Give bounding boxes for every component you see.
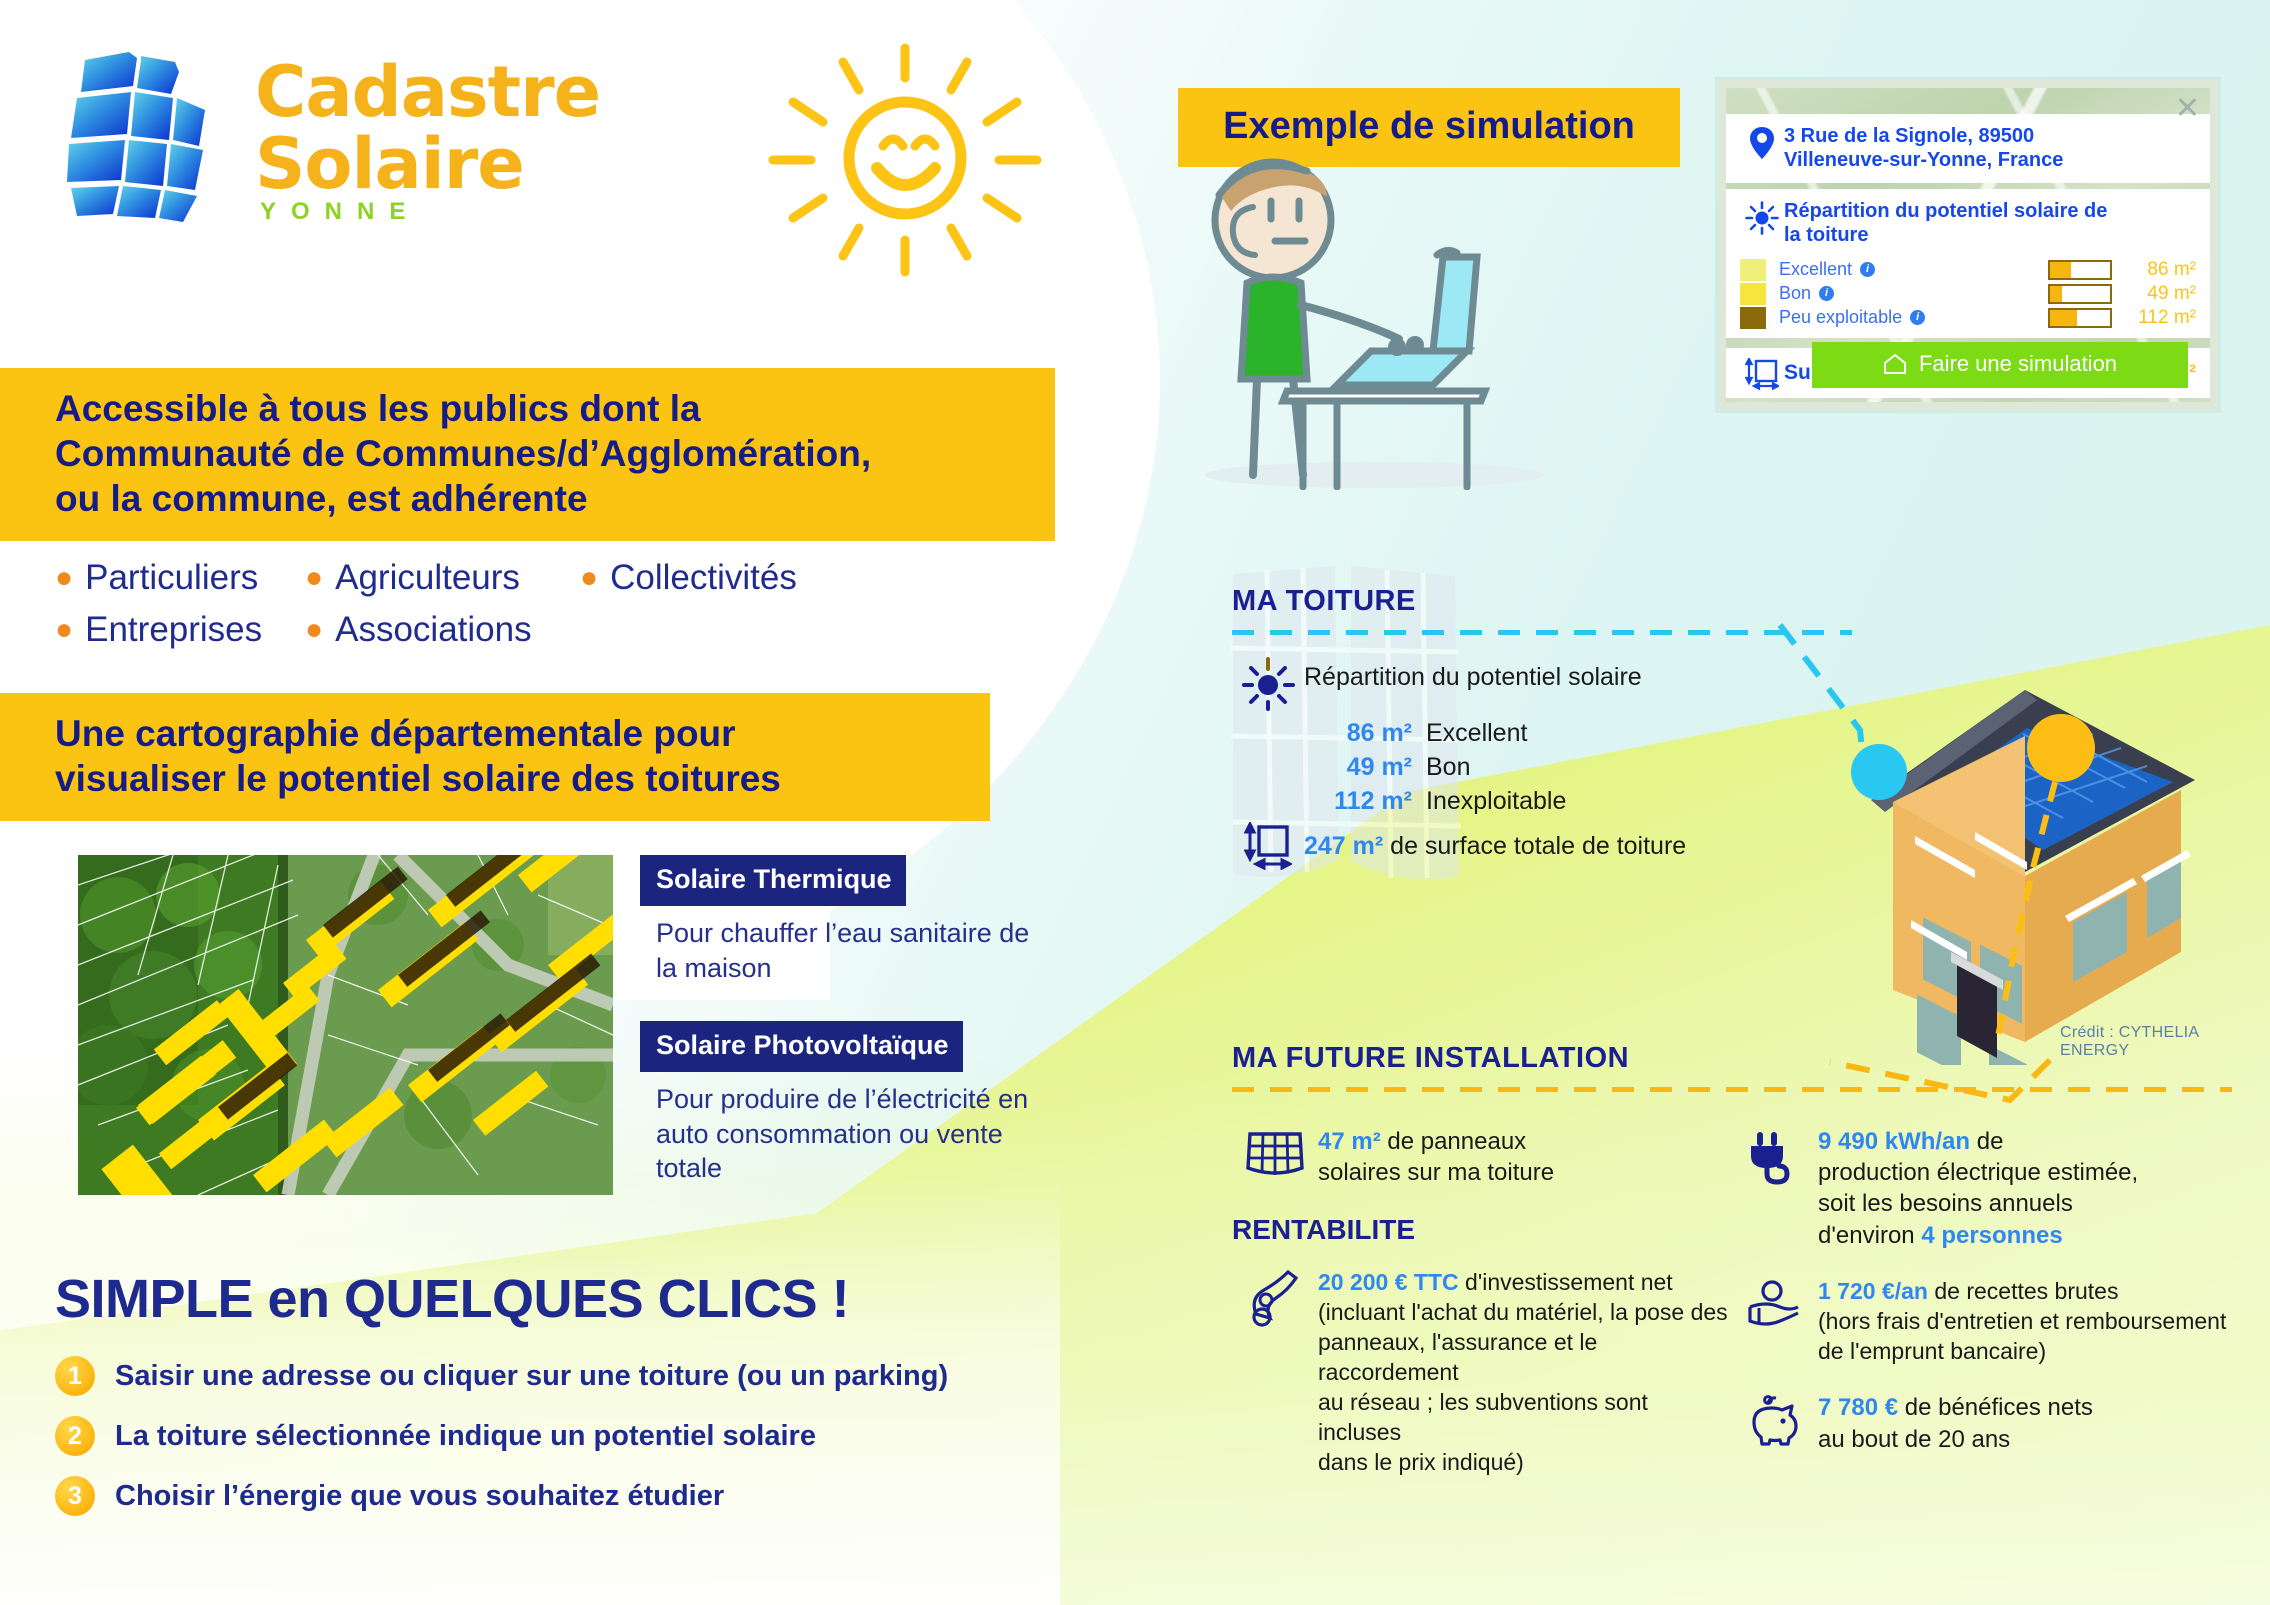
revenue-rest: de recettes brutes [1928,1278,2119,1304]
audience-label: Entreprises [85,610,262,650]
legend-bar [2048,284,2112,304]
energy-types: Solaire Thermique Pour chauffer l’eau sa… [640,855,1060,1186]
audience-item-agriculteurs: ● Agriculteurs [305,558,580,598]
close-icon[interactable]: ✕ [2175,94,2200,124]
audience-label: Associations [335,610,531,650]
solar-panel-icon [1232,1126,1318,1184]
revenue-value: 1 720 €/an [1818,1278,1928,1304]
banner2-line1: Une cartographie départementale pour [55,711,950,756]
ma-toiture-section: MA TOITURE Répartition du potentiel sola… [1232,585,1852,870]
address-row: 3 Rue de la Signole, 89500 Villeneuve-su… [1726,114,2210,183]
logo-line-1: Cadastre [255,56,600,128]
ma-toiture-title: MA TOITURE [1232,585,1852,618]
divider-dashed-yellow [1232,1087,2232,1092]
audience-row-1: ● Particuliers ● Agriculteurs ● Collecti… [55,558,955,598]
info-icon[interactable]: i [1860,262,1875,277]
toiture-surface-value: 247 m² [1304,832,1383,860]
energy-body: Pour chauffer l’eau sanitaire de la mais… [640,906,1060,985]
benefit-text: 7 780 € de bénéfices nets au bout de 20 … [1818,1392,2093,1454]
legend-swatch [1740,307,1766,329]
rentabilite-title: RENTABILITE [1232,1214,1732,1246]
audience-row-2: ● Entreprises ● Associations [55,610,955,650]
revenue-line-2: (hors frais d'entretien et remboursement [1818,1308,2226,1334]
audience-item-collectivites: ● Collectivités [580,558,797,598]
production-rest: de [1970,1128,2003,1155]
repartition-text: Répartition du potentiel solaire de la t… [1784,199,2107,248]
legend-bar [2048,308,2112,328]
legend-label: Excellent [1779,259,1852,280]
legend-bar [2048,260,2112,280]
repartition-line-1: Répartition du potentiel solaire de [1784,199,2107,223]
step-3: 3 Choisir l’énergie que vous souhaitez é… [55,1476,1075,1516]
panels-row: 47 m² de panneaux solaires sur ma toitur… [1232,1126,1732,1188]
faire-une-simulation-button[interactable]: Faire une simulation [1812,342,2188,388]
home-icon [1883,353,1907,375]
investment-line-5: dans le prix indiqué) [1318,1449,1524,1475]
banner1-line2: Communauté de Communes/d’Agglomération, [55,431,1015,476]
production-row: 9 490 kWh/an de production électrique es… [1732,1126,2232,1251]
hand-money-icon [1732,1277,1818,1327]
repartition-line-2: la toiture [1784,223,2107,247]
audience-label: Agriculteurs [335,558,520,598]
toiture-item-label: Bon [1426,753,1470,782]
audience-label: Collectivités [610,558,797,598]
investment-row: 20 200 € TTC d'investissement net (inclu… [1232,1268,1732,1477]
energy-block-photovoltaique: Solaire Photovoltaïque Pour produire de … [640,1021,1060,1186]
toiture-item-bon: 49 m² Bon [1304,753,1852,782]
banner1-line1: Accessible à tous les publics dont la [55,386,1015,431]
future-top-row: 47 m² de panneaux solaires sur ma toitur… [1232,1126,2232,1504]
info-icon[interactable]: i [1819,286,1834,301]
legend-label-wrap: Excellent i [1779,259,2048,280]
piggy-bank-icon [1732,1392,1818,1446]
button-label: Faire une simulation [1919,351,2117,377]
bullet-dot-icon: ● [305,563,323,593]
legend-value: 112 m² [2128,307,2196,329]
ma-future-installation-section: MA FUTURE INSTALLATION [1232,1042,2232,1504]
logo-wordmark: Cadastre Solaire [255,56,600,200]
benefit-line-2: au bout de 20 ans [1818,1426,2010,1453]
legend-swatch [1740,283,1766,305]
toiture-surface-text: 247 m² de surface totale de toiture [1304,832,1686,861]
logo-subtitle: YONNE [260,198,420,226]
legend-label-wrap: Bon i [1779,283,2048,304]
energy-title: Solaire Thermique [640,855,906,906]
simple-title: SIMPLE en QUELQUES CLICS ! [55,1268,1075,1330]
toiture-item-value: 86 m² [1304,719,1426,748]
energy-title: Solaire Photovoltaïque [640,1021,963,1072]
legend-label: Bon [1779,283,1811,304]
revenue-row: 1 720 €/an de recettes brutes (hors frai… [1732,1277,2232,1367]
step-2: 2 La toiture sélectionnée indique un pot… [55,1416,1075,1456]
toiture-item-excellent: 86 m² Excellent [1304,719,1852,748]
divider-dashed-blue [1232,630,1852,635]
production-line-3: soit les besoins annuels [1818,1190,2073,1217]
repartition-row: Répartition du potentiel solaire de la t… [1726,189,2210,258]
repartition-heading: Répartition du potentiel solaire [1304,657,1642,692]
audience-item-entreprises: ● Entreprises [55,610,305,650]
simulation-result-card[interactable]: ✕ 3 Rue de la Signole, 89500 Villeneuve-… [1718,80,2218,410]
toiture-item-label: Excellent [1426,719,1527,748]
info-icon[interactable]: i [1910,310,1925,325]
step-text: La toiture sélectionnée indique un poten… [115,1420,816,1453]
banner1-line3: ou la commune, est adhérente [55,476,1015,521]
logo: Cadastre Solaire YONNE [55,38,675,248]
banner-cartographie: Une cartographie départementale pour vis… [0,693,990,821]
address-line-2: Villeneuve-sur-Yonne, France [1784,148,2063,172]
production-value: 9 490 kWh/an [1818,1128,1970,1155]
toiture-item-value: 112 m² [1304,787,1426,816]
bullet-dot-icon: ● [55,615,73,645]
spacer [640,985,1060,1021]
banner2-line2: visualiser le potentiel solaire des toit… [55,756,950,801]
investment-line-2: (incluant l'achat du matériel, la pose d… [1318,1299,1728,1325]
step-number-badge: 2 [55,1416,95,1456]
legend-row-bon: Bon i 49 m² [1740,282,2196,306]
dimensions-icon [1740,356,1784,390]
legend-value: 49 m² [2128,283,2196,305]
map-pin-icon [1740,124,1784,160]
sun-icon [1740,199,1784,235]
revenue-line-3: de l'emprunt bancaire) [1818,1338,2046,1364]
investment-value: 20 200 € TTC [1318,1269,1459,1295]
future-right-column: 9 490 kWh/an de production électrique es… [1732,1126,2232,1504]
benefit-row: 7 780 € de bénéfices nets au bout de 20 … [1732,1392,2232,1454]
audience-item-particuliers: ● Particuliers [55,558,305,598]
production-line-4-pre: d'environ [1818,1222,1921,1249]
hand-coin-icon [1232,1268,1318,1328]
legend-label-wrap: Peu exploitable i [1779,307,2048,328]
future-left-column: 47 m² de panneaux solaires sur ma toitur… [1232,1126,1732,1504]
step-text: Saisir une adresse ou cliquer sur une to… [115,1360,948,1393]
step-number-badge: 1 [55,1356,95,1396]
repartition-row: Répartition du potentiel solaire [1232,657,1852,711]
production-line-4-highlight: 4 personnes [1921,1222,2062,1249]
step-text: Choisir l’énergie que vous souhaitez étu… [115,1480,724,1513]
future-title: MA FUTURE INSTALLATION [1232,1042,2232,1075]
legend-row-peu-exploitable: Peu exploitable i 112 m² [1740,306,2196,330]
toiture-surface-row: 247 m² de surface totale de toiture [1232,822,1852,870]
step-1: 1 Saisir une adresse ou cliquer sur une … [55,1356,1075,1396]
panels-text-b: solaires sur ma toiture [1318,1159,1554,1186]
simple-steps-section: SIMPLE en QUELQUES CLICS ! 1 Saisir une … [55,1268,1075,1536]
investment-line-3: panneaux, l'assurance et le raccordement [1318,1329,1597,1385]
logo-line-2: Solaire [255,128,600,200]
bullet-dot-icon: ● [305,615,323,645]
potential-legend: Excellent i 86 m² Bon i 49 m² Peu exploi… [1726,258,2210,338]
legend-row-excellent: Excellent i 86 m² [1740,258,2196,282]
energy-body: Pour produire de l’électricité en auto c… [640,1072,1060,1186]
toiture-item-inexploitable: 112 m² Inexploitable [1304,787,1852,816]
legend-label: Peu exploitable [1779,307,1902,328]
repartition-values: 86 m² Excellent 49 m² Bon 112 m² Inexplo… [1232,719,1852,816]
audience-item-associations: ● Associations [305,610,532,650]
production-text: 9 490 kWh/an de production électrique es… [1818,1126,2138,1251]
bullet-dot-icon: ● [55,563,73,593]
house-with-solar-panels-illustration [1775,690,2265,1060]
revenue-text: 1 720 €/an de recettes brutes (hors frai… [1818,1277,2226,1367]
person-at-laptop-illustration [1175,145,1595,485]
panels-text-a: de panneaux [1381,1128,1526,1155]
benefit-value: 7 780 € [1818,1394,1898,1421]
banner-accessible: Accessible à tous les publics dont la Co… [0,368,1055,541]
legend-value: 86 m² [2128,259,2196,281]
toiture-item-value: 49 m² [1304,753,1426,782]
sun-icon [1232,657,1304,711]
smiling-sun-icon [755,40,1055,285]
step-number-badge: 3 [55,1476,95,1516]
energy-block-thermique: Solaire Thermique Pour chauffer l’eau sa… [640,855,1060,985]
aerial-cadastre-image [78,855,613,1195]
address-text: 3 Rue de la Signole, 89500 Villeneuve-su… [1784,124,2063,173]
audience-label: Particuliers [85,558,258,598]
card-content: ✕ 3 Rue de la Signole, 89500 Villeneuve-… [1726,88,2210,402]
solar-panel-map-icon [55,38,240,223]
investment-text: 20 200 € TTC d'investissement net (inclu… [1318,1268,1732,1477]
aerial-map-render [78,855,613,1195]
toiture-surface-label: de surface totale de toiture [1390,832,1686,860]
production-line-2: production électrique estimée, [1818,1159,2138,1186]
dimensions-icon [1232,822,1304,870]
bullet-dot-icon: ● [580,563,598,593]
address-line-1: 3 Rue de la Signole, 89500 [1784,124,2063,148]
plug-icon [1732,1126,1818,1186]
audience-list: ● Particuliers ● Agriculteurs ● Collecti… [55,558,955,662]
benefit-rest: de bénéfices nets [1898,1394,2093,1421]
toiture-item-label: Inexploitable [1426,787,1566,816]
investment-line-4: au réseau ; les subventions sont incluse… [1318,1389,1648,1445]
panels-text: 47 m² de panneaux solaires sur ma toitur… [1318,1126,1554,1188]
panels-value: 47 m² [1318,1128,1381,1155]
investment-rest: d'investissement net [1459,1269,1673,1295]
legend-swatch [1740,259,1766,281]
